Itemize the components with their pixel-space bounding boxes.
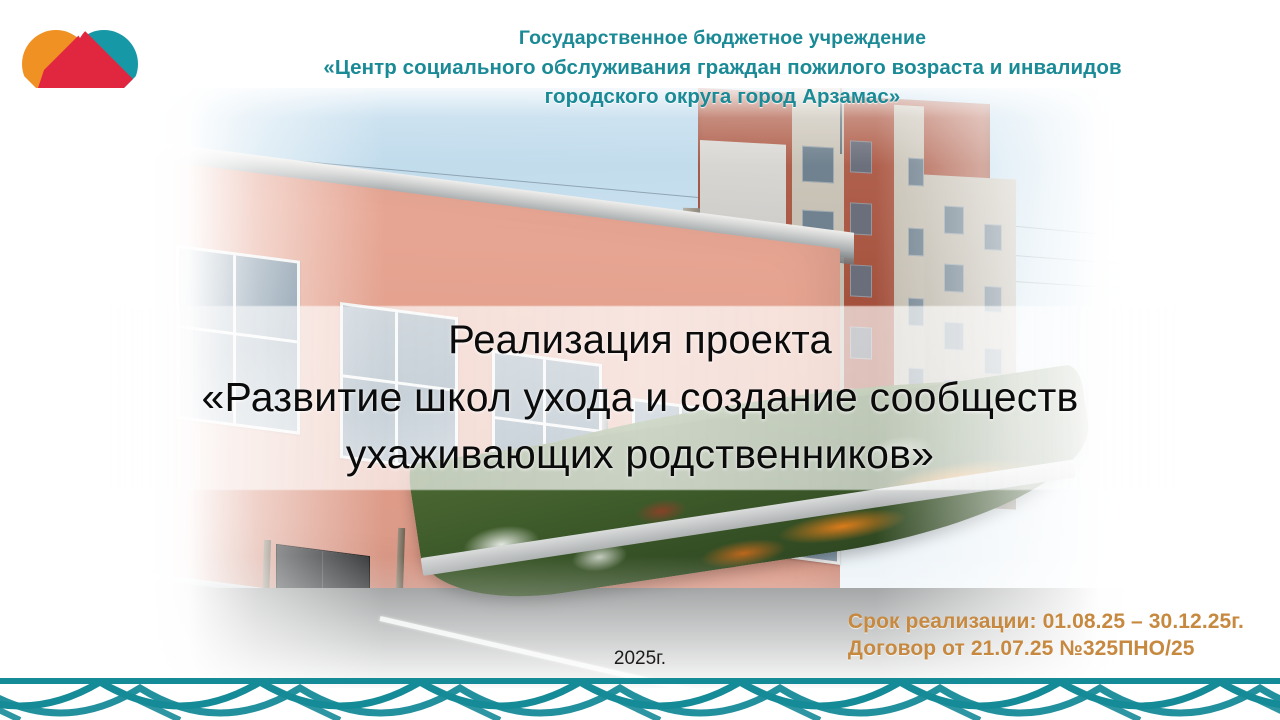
presentation-slide: Государственное бюджетное учреждение «Це…	[0, 0, 1280, 720]
page-title: Реализация проекта «Развитие школ ухода …	[60, 312, 1220, 483]
implementation-period: Срок реализации: 01.08.25 – 30.12.25г.	[848, 608, 1244, 635]
title-line-2: «Развитие школ ухода и создание сообщест…	[60, 369, 1220, 426]
scallop-border	[0, 678, 1280, 720]
contract-number: Договор от 21.07.25 №325ПНО/25	[848, 635, 1244, 662]
title-line-1: Реализация проекта	[60, 312, 1220, 369]
title-line-3: ухаживающих родственников»	[60, 426, 1220, 483]
organization-header: Государственное бюджетное учреждение «Це…	[170, 24, 1275, 111]
header-line-3: городского округа город Арзамас»	[170, 82, 1275, 111]
header-line-1: Государственное бюджетное учреждение	[170, 24, 1275, 53]
header-line-2: «Центр социального обслуживания граждан …	[170, 53, 1275, 82]
contract-info: Срок реализации: 01.08.25 – 30.12.25г. Д…	[848, 608, 1244, 662]
